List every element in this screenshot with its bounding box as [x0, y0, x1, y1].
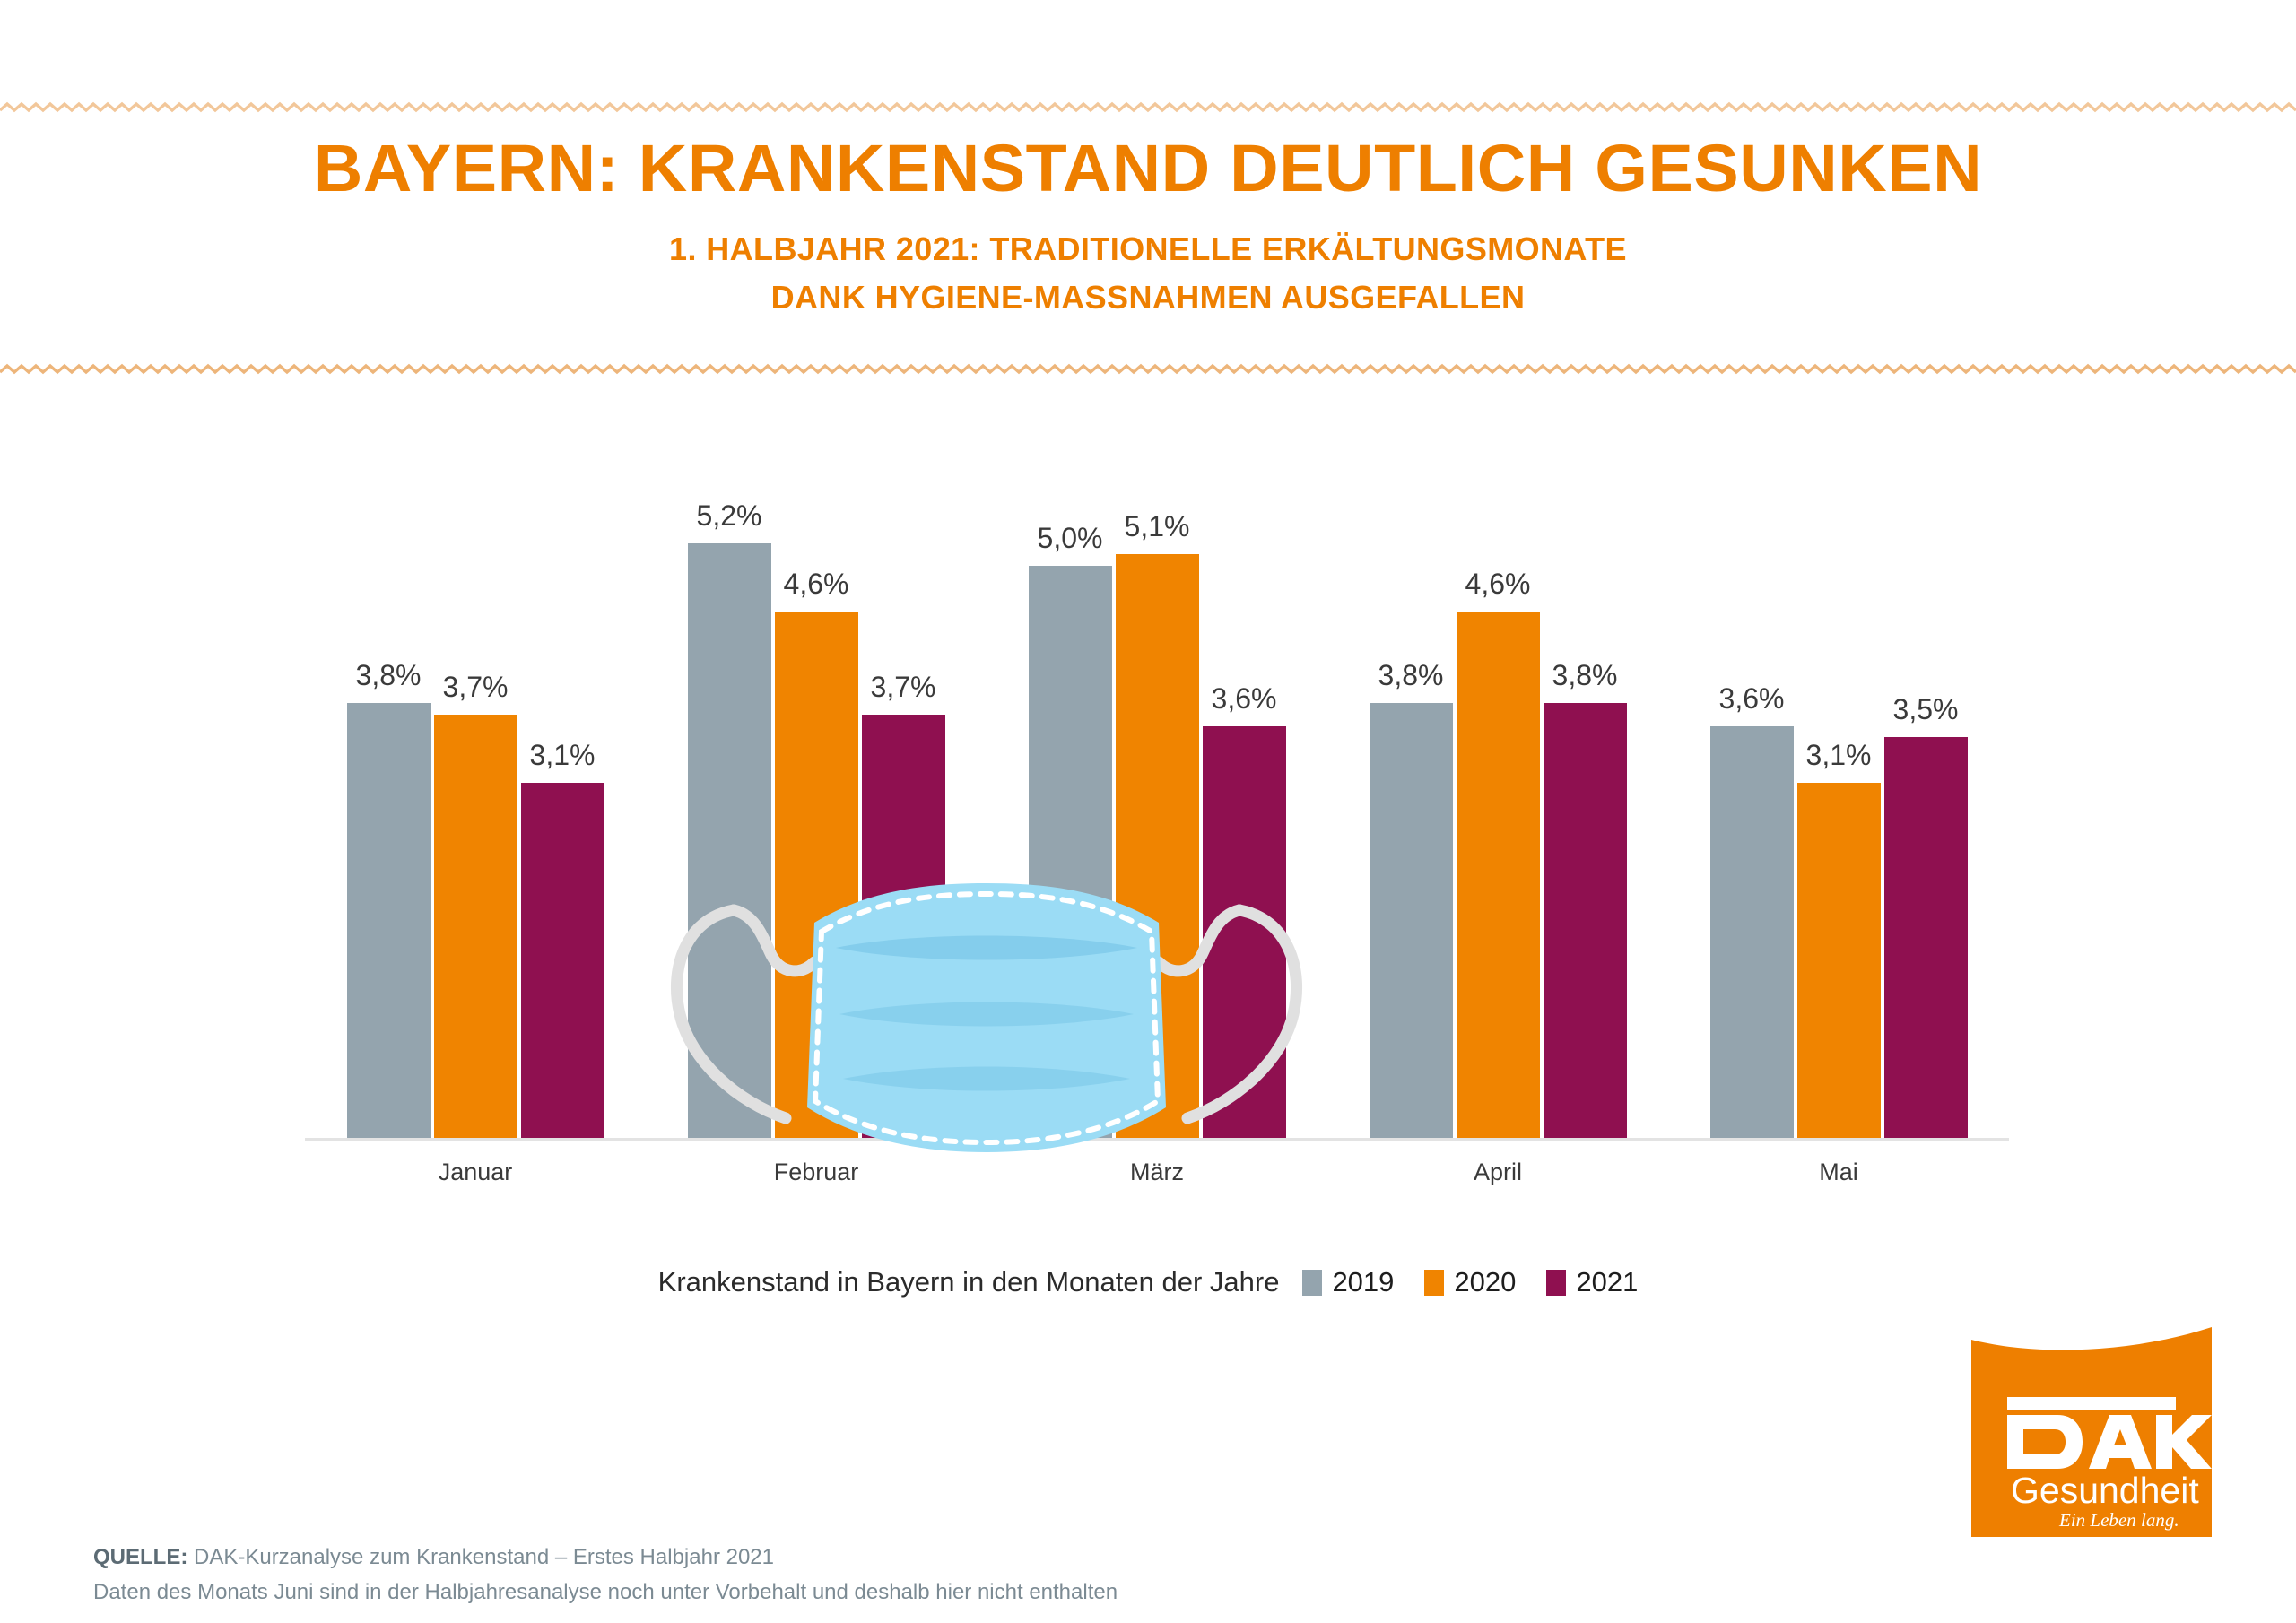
legend-caption: Krankenstand in Bayern in den Monaten de…: [658, 1266, 1280, 1298]
bar-2020-januar[interactable]: 3,7%: [434, 715, 517, 1138]
page-subtitle-line1: 1. HALBJAHR 2021: TRADITIONELLE ERKÄLTUN…: [0, 225, 2296, 273]
page-subtitle-line2: DANK HYGIENE-MASSNAHMEN AUSGEFALLEN: [0, 273, 2296, 322]
bar-value-label: 3,7%: [443, 671, 509, 704]
bar-2019-mai[interactable]: 3,6%: [1710, 726, 1794, 1138]
bar-chart: 3,8%3,7%3,1%5,2%4,6%3,7%5,0%5,1%3,6%3,8%…: [305, 475, 2009, 1139]
chart-plot-area: 3,8%3,7%3,1%5,2%4,6%3,7%5,0%5,1%3,6%3,8%…: [305, 475, 2009, 1139]
legend-label-2020: 2020: [1454, 1266, 1516, 1298]
source-line-1: QUELLE: DAK-Kurzanalyse zum Krankenstand…: [93, 1541, 1528, 1575]
logo-tagline: Ein Leben lang.: [2058, 1509, 2179, 1531]
dak-logo[interactable]: Gesundheit Ein Leben lang.: [1971, 1327, 2212, 1537]
bar-2021-märz[interactable]: 3,6%: [1203, 726, 1286, 1138]
page-title: BAYERN: KRANKENSTAND DEUTLICH GESUNKEN: [0, 135, 2296, 204]
bar-value-label: 3,8%: [356, 659, 422, 692]
category-label-februar: Februar: [774, 1159, 859, 1186]
category-label-mai: Mai: [1819, 1159, 1858, 1186]
header-block: BAYERN: KRANKENSTAND DEUTLICH GESUNKEN 1…: [0, 135, 2296, 322]
infographic-poster: BAYERN: KRANKENSTAND DEUTLICH GESUNKEN 1…: [0, 0, 2296, 1623]
category-label-januar: Januar: [439, 1159, 513, 1186]
bar-2019-april[interactable]: 3,8%: [1370, 703, 1453, 1138]
legend-label-2019: 2019: [1332, 1266, 1394, 1298]
bar-value-label: 4,6%: [1465, 568, 1531, 601]
legend-swatch-2021: [1546, 1270, 1566, 1296]
category-label-märz: März: [1130, 1159, 1184, 1186]
bar-value-label: 3,8%: [1552, 659, 1618, 692]
chart-legend: Krankenstand in Bayern in den Monaten de…: [0, 1266, 2296, 1298]
bar-value-label: 3,5%: [1893, 693, 1959, 726]
bar-2020-mai[interactable]: 3,1%: [1797, 783, 1881, 1138]
bar-2020-märz[interactable]: 5,1%: [1116, 554, 1199, 1138]
bar-value-label: 4,6%: [784, 568, 849, 601]
bar-2021-april[interactable]: 3,8%: [1544, 703, 1627, 1138]
bar-group: 3,6%3,1%3,5%: [1668, 474, 2009, 1138]
bar-2021-mai[interactable]: 3,5%: [1884, 737, 1968, 1138]
bar-value-label: 3,1%: [530, 739, 596, 772]
bar-2019-januar[interactable]: 3,8%: [347, 703, 430, 1138]
legend-swatch-2020: [1424, 1270, 1444, 1296]
zigzag-divider-top: [0, 100, 2296, 113]
bar-group: 3,8%4,6%3,8%: [1327, 474, 1668, 1138]
bar-value-label: 5,2%: [697, 499, 762, 533]
bar-value-label: 3,6%: [1719, 682, 1785, 716]
bar-group: 5,2%4,6%3,7%: [646, 474, 987, 1138]
bar-group: 5,0%5,1%3,6%: [987, 474, 1327, 1138]
bar-2020-april[interactable]: 4,6%: [1457, 612, 1540, 1138]
bar-group: 3,8%3,7%3,1%: [305, 474, 646, 1138]
bar-value-label: 3,1%: [1806, 739, 1872, 772]
source-note: QUELLE: DAK-Kurzanalyse zum Krankenstand…: [93, 1541, 1528, 1610]
legend-item-2021[interactable]: 2021: [1546, 1266, 1638, 1298]
logo-name: Gesundheit: [2011, 1470, 2199, 1511]
bar-value-label: 3,6%: [1212, 682, 1277, 716]
legend-swatch-2019: [1302, 1270, 1322, 1296]
category-label-april: April: [1474, 1159, 1522, 1186]
source-line-2: Daten des Monats Juni sind in der Halbja…: [93, 1575, 1528, 1610]
legend-item-2019[interactable]: 2019: [1302, 1266, 1394, 1298]
source-label: QUELLE:: [93, 1545, 187, 1569]
source-text-1: DAK-Kurzanalyse zum Krankenstand – Erste…: [187, 1545, 774, 1569]
bar-2020-februar[interactable]: 4,6%: [775, 612, 858, 1138]
bar-value-label: 5,0%: [1038, 522, 1103, 555]
zigzag-divider-bottom: [0, 362, 2296, 375]
bar-2021-februar[interactable]: 3,7%: [862, 715, 945, 1138]
bar-2019-februar[interactable]: 5,2%: [688, 543, 771, 1138]
bar-value-label: 3,7%: [871, 671, 936, 704]
legend-label-2021: 2021: [1576, 1266, 1638, 1298]
bar-value-label: 3,8%: [1378, 659, 1444, 692]
chart-baseline-axis: [305, 1138, 2009, 1141]
bar-value-label: 5,1%: [1125, 510, 1190, 543]
bar-2019-märz[interactable]: 5,0%: [1029, 566, 1112, 1138]
legend-item-2020[interactable]: 2020: [1424, 1266, 1516, 1298]
bar-2021-januar[interactable]: 3,1%: [521, 783, 604, 1138]
page-subtitle: 1. HALBJAHR 2021: TRADITIONELLE ERKÄLTUN…: [0, 225, 2296, 322]
